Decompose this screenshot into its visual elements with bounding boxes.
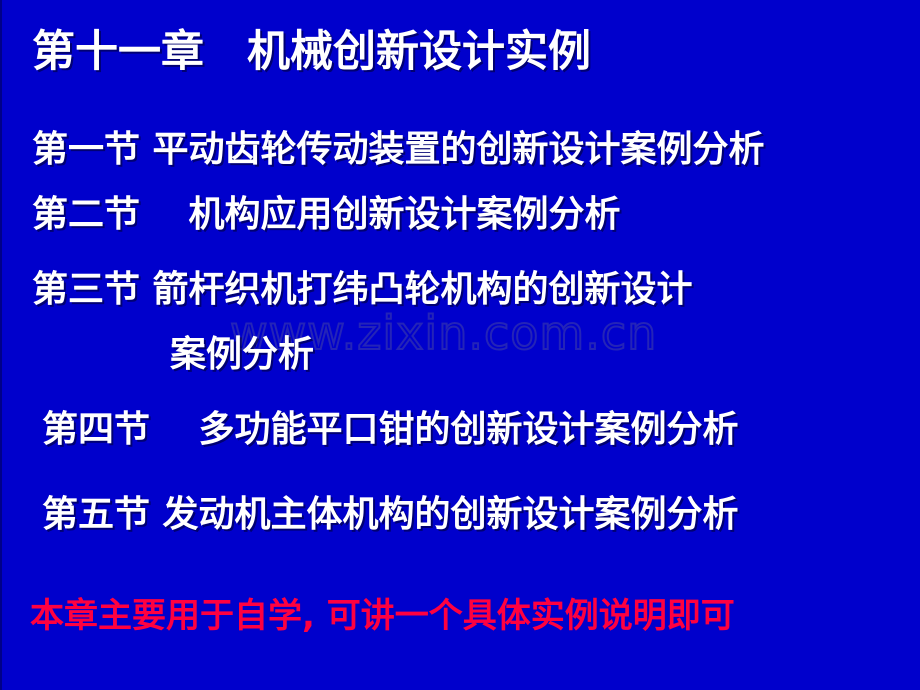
section-item-3-continuation: 案例分析 <box>170 334 314 375</box>
section-item-1: 第一节 平动齿轮传动装置的创新设计案例分析 <box>32 129 765 170</box>
note-text: 本章主要用于自学, 可讲一个具体实例说明即可 <box>30 588 735 637</box>
section-item-3: 第三节 箭杆织机打纬凸轮机构的创新设计 <box>32 269 693 310</box>
section-item-2: 第二节 机构应用创新设计案例分析 <box>32 194 621 235</box>
section-item-4: 第四节 多功能平口钳的创新设计案例分析 <box>42 409 739 450</box>
section-item-5: 第五节 发动机主体机构的创新设计案例分析 <box>42 494 739 535</box>
slide-content: 第十一章 机械创新设计实例 第一节 平动齿轮传动装置的创新设计案例分析 第二节 … <box>2 0 920 690</box>
presentation-slide: www.zixin.com.cn 第十一章 机械创新设计实例 第一节 平动齿轮传… <box>0 0 920 690</box>
slide-title: 第十一章 机械创新设计实例 <box>32 28 591 77</box>
